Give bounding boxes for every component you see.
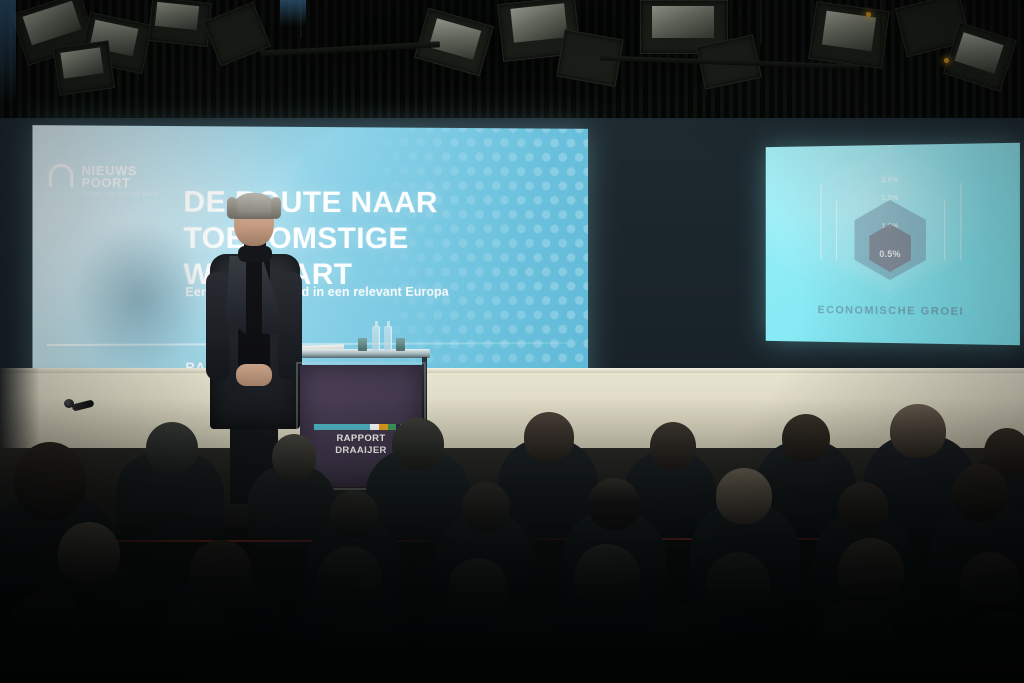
presenter-arm-left [206,272,230,380]
audience-head [462,482,510,532]
audience-head [14,442,86,520]
audience-head [448,558,508,618]
audience-head [816,600,894,672]
audience-head [318,546,382,610]
logo-wordmark: NIEUWS POORT [82,165,138,189]
water-bottle [384,326,392,351]
audience-head [964,612,1024,680]
audience-head [890,404,946,458]
logo-line-2: POORT [82,177,138,189]
audience-head [838,538,904,604]
audience-head [58,522,120,584]
water-bottle [372,326,380,351]
audience-head [952,464,1008,522]
audience-head [960,552,1020,612]
presenter-hair [230,193,278,219]
stage-light-lens [155,2,199,30]
audience-head [646,606,722,676]
drinking-glass [358,338,367,351]
audience-head [330,490,378,538]
audience-head [574,544,640,610]
audience-head [706,552,770,616]
audience-head [272,434,316,480]
presentation-scene: NIEUWS POORT Podium voor het vrije woord… [0,0,1024,683]
ceiling-blue-glow [280,0,306,26]
audience-head [650,422,696,470]
audience-head [484,612,556,680]
ceiling-blue-glow [0,0,16,104]
audience-head [716,468,772,524]
hex-label-core: 0.5% [879,249,900,259]
audience-head [158,600,232,670]
light-indicator-icon [944,58,949,63]
nieuwspoort-logo: NIEUWS POORT Podium voor het vrije woord [49,164,137,190]
audience-head [190,540,252,602]
audience-head [524,412,574,462]
stage-light-lens [60,47,103,78]
stage-light-lens [652,6,714,38]
light-cable [760,0,762,44]
nieuwspoort-arch-icon [49,164,74,187]
audience-head [320,604,396,674]
audience-head [146,422,198,474]
drinking-glass [396,338,405,351]
presenter-collar [238,246,272,262]
light-indicator-icon [866,12,871,17]
logo-tagline: Podium voor het vrije woord [82,191,159,197]
stage-light-lens [510,3,567,42]
audience-head [782,414,830,462]
audience-head [392,418,444,470]
audience-head [588,478,640,530]
presenter-hands [236,364,272,386]
light-cable [880,0,882,52]
audience-head [838,482,888,532]
audience-area [0,398,1024,683]
audience-head [10,590,84,662]
side-projection-screen: 2.0% 1.5% 1.0% 0.5% ECONOMISCHE GROEI [766,143,1020,346]
